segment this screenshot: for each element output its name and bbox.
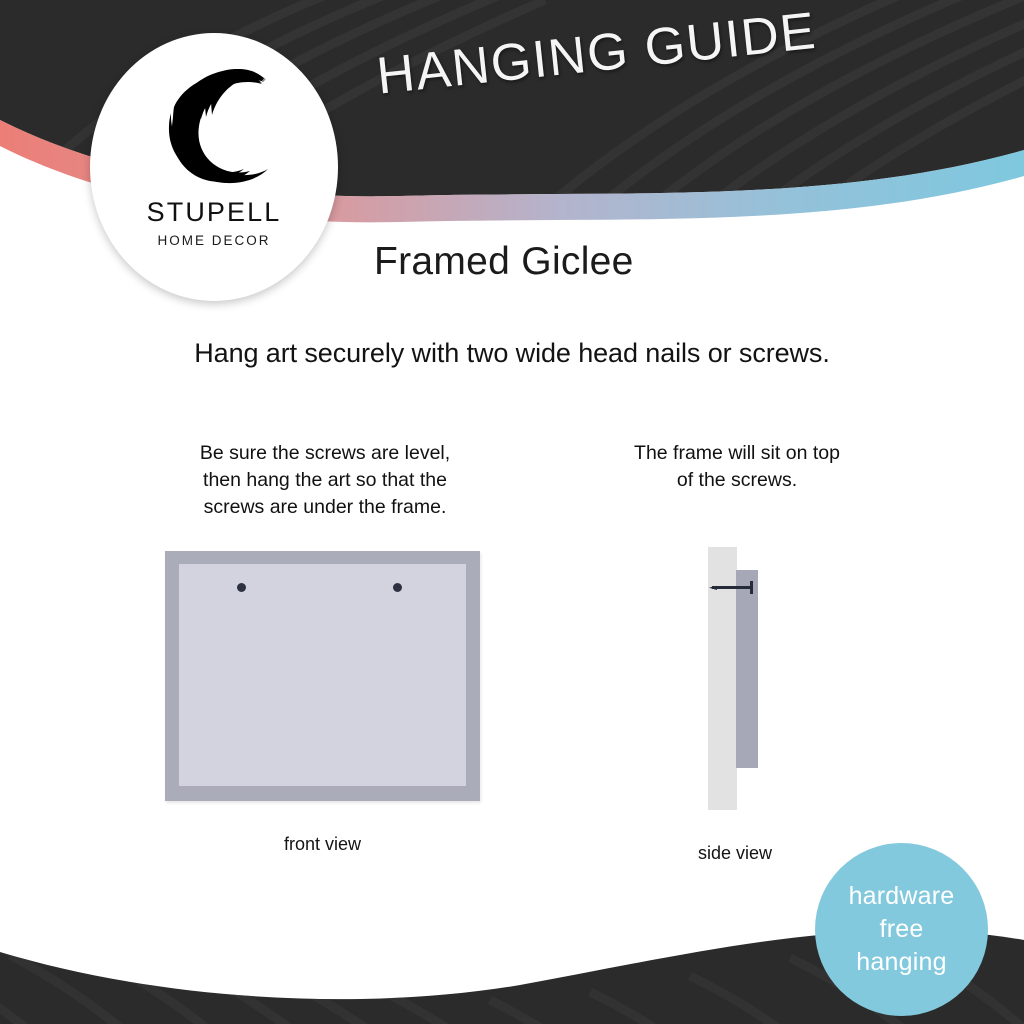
- stupell-swoosh-icon: [158, 63, 270, 185]
- hanging-guide-page: STUPELL HOME DECOR HANGING GUIDE Framed …: [0, 0, 1024, 1024]
- nail-shaft-icon: [712, 586, 753, 589]
- caption-line: of the screws.: [572, 467, 902, 494]
- frame-side-strip: [736, 570, 758, 768]
- side-view-caption: The frame will sit on top of the screws.: [572, 440, 902, 494]
- badge-line: free: [880, 913, 924, 946]
- hardware-free-hanging-badge: hardware free hanging: [815, 843, 988, 1016]
- side-view-caption-block: The frame will sit on top of the screws.: [572, 440, 902, 494]
- badge-line: hanging: [856, 946, 946, 979]
- page-title: HANGING GUIDE: [374, 0, 897, 107]
- caption-line: screws are under the frame.: [120, 494, 530, 521]
- frame-inner-mat: [179, 564, 466, 786]
- nail-head-icon: [750, 581, 753, 594]
- front-view-caption: Be sure the screws are level, then hang …: [120, 440, 530, 521]
- screw-dot-left: [237, 583, 246, 592]
- screw-dot-right: [393, 583, 402, 592]
- brand-logo-badge: STUPELL HOME DECOR: [90, 33, 338, 301]
- front-view-label: front view: [165, 834, 480, 855]
- framed-art-front-diagram: [165, 551, 480, 801]
- caption-line: Be sure the screws are level,: [120, 440, 530, 467]
- logo-tagline: HOME DECOR: [157, 233, 270, 248]
- front-view-caption-block: Be sure the screws are level, then hang …: [120, 440, 530, 521]
- product-type-title: Framed Giclee: [374, 240, 634, 284]
- badge-line: hardware: [849, 880, 955, 913]
- logo-wordmark: STUPELL: [147, 197, 282, 228]
- caption-line: The frame will sit on top: [572, 440, 902, 467]
- main-instruction-text: Hang art securely with two wide head nai…: [0, 338, 1024, 369]
- caption-line: then hang the art so that the: [120, 467, 530, 494]
- side-view-label: side view: [640, 843, 830, 864]
- framed-art-side-diagram: [700, 547, 770, 810]
